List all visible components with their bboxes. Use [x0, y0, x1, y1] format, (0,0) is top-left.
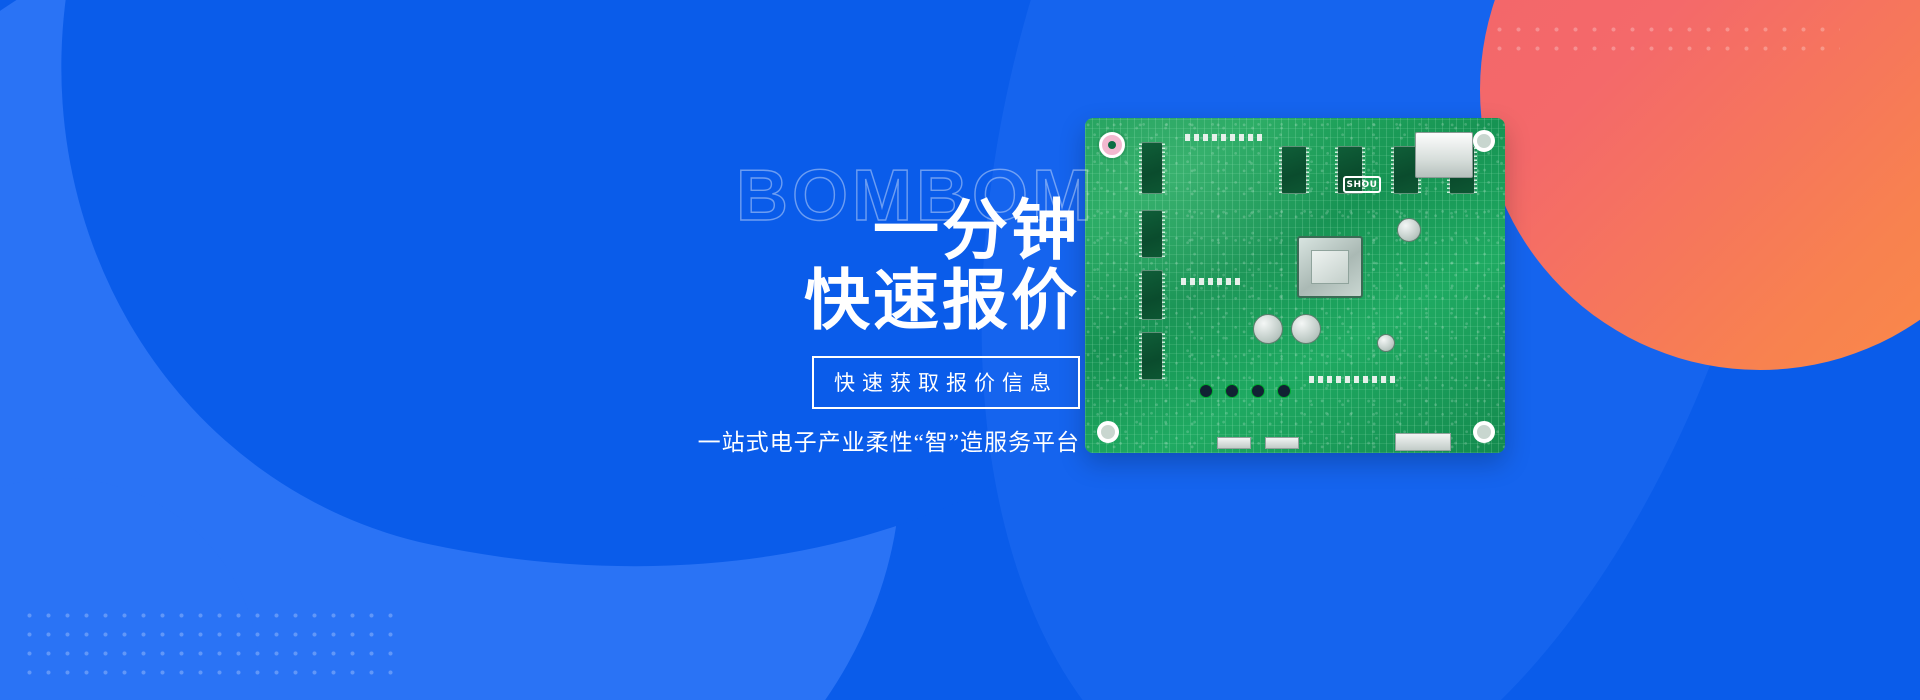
dot-grid-bottom-left — [20, 606, 400, 684]
pcb-connector-lug-1 — [1217, 437, 1251, 449]
pcb-button-cell — [1377, 334, 1395, 352]
pcb-inductor-3 — [1397, 218, 1421, 242]
pcb-chip-1 — [1141, 142, 1163, 194]
pcb-inductor-1 — [1253, 314, 1283, 344]
pcb-chip-2 — [1141, 210, 1163, 258]
headline-line-2: 快速报价 — [660, 266, 1080, 336]
pcb-memory-1 — [1281, 146, 1307, 194]
pcb-header-pin-1 — [1199, 384, 1213, 398]
pcb-header-pin-4 — [1277, 384, 1291, 398]
pcb-smd-row-top — [1185, 134, 1265, 141]
pcb-main-processor — [1297, 236, 1363, 298]
pcb-header-pin-3 — [1251, 384, 1265, 398]
cta-button[interactable]: 快速获取报价信息 — [812, 356, 1080, 409]
hero-content: BOMBOM 一分钟 快速报价 快速获取报价信息 一站式电子产业柔性“智”造服务… — [660, 150, 1080, 457]
pcb-mount-hole-br — [1473, 421, 1495, 443]
headline-line-1: 一分钟 — [660, 196, 1080, 266]
dot-grid-top-right — [1490, 20, 1840, 56]
tagline: 一站式电子产业柔性“智”造服务平台 — [660, 423, 1080, 457]
pcb-inductor-2 — [1291, 314, 1321, 344]
pcb-smd-row-bottom — [1309, 376, 1399, 383]
pcb-sim-connector — [1415, 132, 1473, 178]
page-title: 一分钟 快速报价 — [660, 196, 1080, 336]
pcb-mount-hole-bl — [1097, 421, 1119, 443]
pcb-pad-ring-inner — [1108, 141, 1116, 149]
pcb-processor-die — [1311, 250, 1348, 285]
pcb-connector-lug-2 — [1265, 437, 1299, 449]
promo-banner: SHOU BOMBOM 一分钟 快速报价 快速获取报价信息 一站式电子产业柔性“… — [0, 0, 1920, 700]
pcb-silkscreen-label: SHOU — [1343, 176, 1381, 193]
pcb-chip-4 — [1141, 332, 1163, 380]
pcb-pad-ring — [1099, 132, 1125, 158]
pcb-substrate: SHOU — [1085, 118, 1505, 453]
pcb-header-pin-2 — [1225, 384, 1239, 398]
pcb-smd-row-mid — [1181, 278, 1241, 285]
pcb-chip-3 — [1141, 270, 1163, 320]
pcb-board-image: SHOU — [1085, 118, 1505, 453]
pcb-connector-lug-3 — [1395, 433, 1451, 451]
